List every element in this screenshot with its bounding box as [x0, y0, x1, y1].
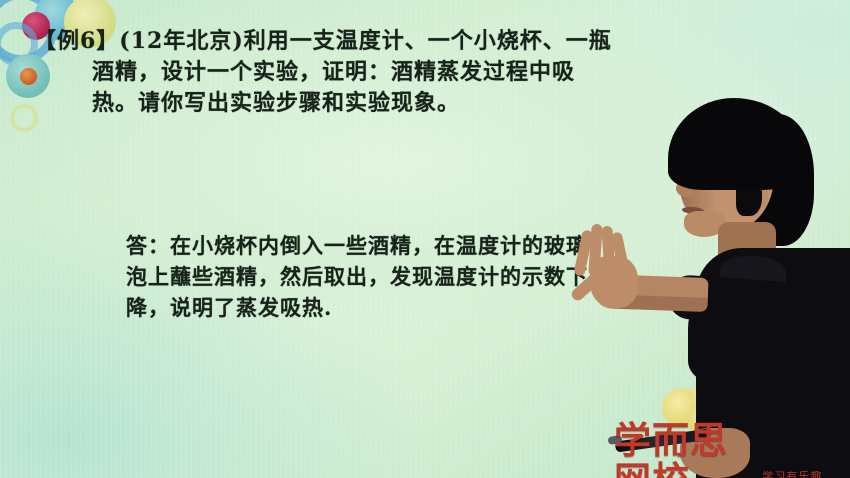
answer-line-3: 降，说明了蒸发吸热.: [126, 292, 588, 323]
brand-slogan: 学习有乐趣: [762, 468, 850, 478]
answer-line-2: 泡上蘸些酒精，然后取出，发现温度计的示数下: [126, 261, 588, 292]
brand-watermark: 学而思网校 学习有乐趣 xueersi.com: [614, 420, 850, 478]
answer-text-block: 答：在小烧杯内倒入一些酒精，在温度计的玻璃 泡上蘸些酒精，然后取出，发现温度计的…: [126, 230, 588, 323]
answer-line-1: 答：在小烧杯内倒入一些酒精，在温度计的玻璃: [126, 230, 588, 261]
presenter-hair-top: [668, 98, 802, 190]
brand-sub-block: 学习有乐趣 xueersi.com: [762, 468, 850, 478]
lecture-video-frame: 【例6】(12年北京)利用一支温度计、一个小烧杯、一瓶 酒精，设计一个实验，证明…: [0, 0, 850, 478]
question-line-2: 酒精，设计一个实验，证明：酒精蒸发过程中吸: [34, 57, 612, 88]
question-line-1: 【例6】(12年北京)利用一支温度计、一个小烧杯、一瓶: [34, 26, 612, 57]
question-text-block: 【例6】(12年北京)利用一支温度计、一个小烧杯、一瓶 酒精，设计一个实验，证明…: [34, 26, 612, 119]
question-line-3: 热。请你写出实验步骤和实验现象。: [34, 88, 612, 119]
brand-name: 学而思网校: [614, 420, 758, 478]
